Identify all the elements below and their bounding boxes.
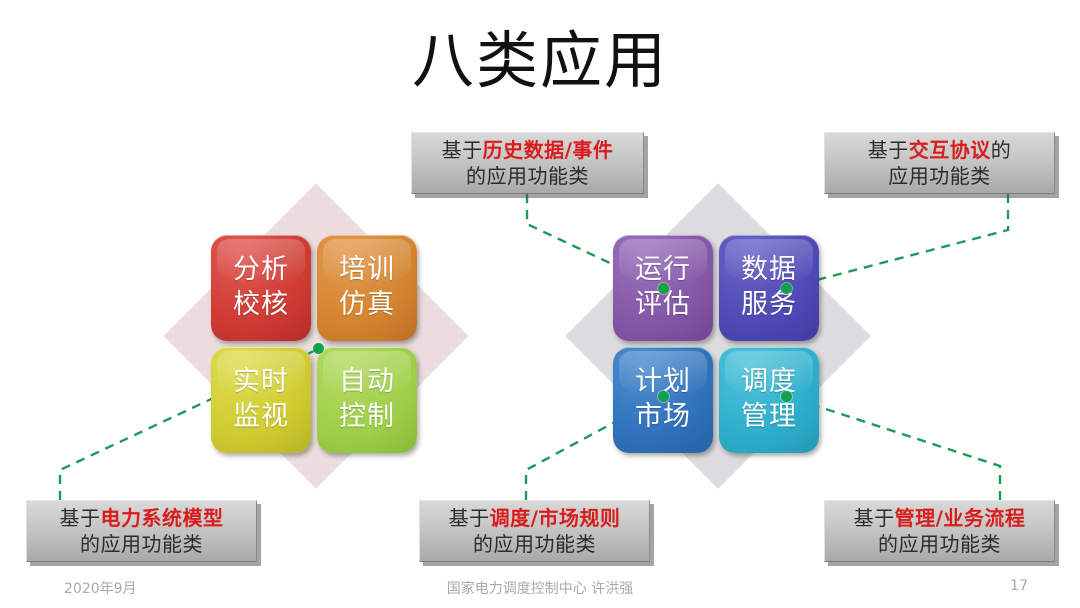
callout-prefix: 基于 — [442, 138, 483, 162]
callout-highlight: 调度/市场规则 — [490, 506, 621, 530]
callout-line-2: 的应用功能类 — [473, 531, 596, 557]
tile-analysis-verification[interactable]: 分析 校核 — [211, 235, 311, 341]
callout-line-1: 基于历史数据/事件 — [442, 137, 614, 163]
wire-protocol — [786, 194, 1008, 288]
junction-dot-left-cluster — [313, 343, 324, 354]
callout-highlight: 管理/业务流程 — [895, 506, 1026, 530]
callout-line-2: 应用功能类 — [888, 163, 991, 189]
callout-dispatch-market-rules[interactable]: 基于调度/市场规则 的应用功能类 — [419, 500, 650, 562]
callout-highlight: 交互协议 — [909, 138, 991, 162]
tile-line-2: 管理 — [741, 400, 797, 435]
tile-line-2: 控制 — [339, 400, 395, 435]
tile-automatic-control[interactable]: 自动 控制 — [317, 347, 417, 453]
right-application-cluster: 运行 评估 数据 服务 计划 市场 调度 管理 — [613, 235, 819, 453]
tile-line-2: 校核 — [233, 288, 289, 323]
callout-prefix: 基于 — [868, 138, 909, 162]
callout-interaction-protocol[interactable]: 基于交互协议的 应用功能类 — [824, 132, 1055, 194]
tile-line-1: 分析 — [233, 253, 289, 288]
callout-line-2: 的应用功能类 — [80, 531, 203, 557]
tile-data-service[interactable]: 数据 服务 — [719, 235, 819, 341]
slide-footer: 2020年9月 国家电力调度控制中心 许洪强 17 — [0, 578, 1080, 600]
junction-dot-operation-evaluation — [658, 283, 669, 294]
slide-canvas: 八类应用 分析 校核 培训 仿真 实时 监视 — [0, 0, 1080, 608]
tile-line-2: 市场 — [635, 400, 691, 435]
tile-line-1: 自动 — [339, 365, 395, 400]
tile-line-2: 监视 — [233, 400, 289, 435]
callout-highlight: 历史数据/事件 — [483, 138, 614, 162]
callout-management-business-process[interactable]: 基于管理/业务流程 的应用功能类 — [824, 500, 1055, 562]
callout-line-1: 基于交互协议的 — [868, 137, 1012, 163]
callout-line-2: 的应用功能类 — [466, 163, 589, 189]
tile-line-1: 实时 — [233, 365, 289, 400]
junction-dot-dispatch-management — [781, 391, 792, 402]
callout-power-system-model[interactable]: 基于电力系统模型 的应用功能类 — [26, 500, 257, 562]
callout-prefix: 基于 — [60, 506, 101, 530]
callout-line-2: 的应用功能类 — [878, 531, 1001, 557]
junction-dot-data-service — [781, 283, 792, 294]
callout-line-1: 基于管理/业务流程 — [854, 505, 1026, 531]
tile-training-simulation[interactable]: 培训 仿真 — [317, 235, 417, 341]
callout-suffix: 的 — [991, 138, 1012, 162]
callout-highlight: 电力系统模型 — [101, 506, 224, 530]
footer-page-number: 17 — [1010, 578, 1028, 594]
footer-affiliation: 国家电力调度控制中心 许洪强 — [0, 578, 1080, 598]
tile-realtime-monitoring[interactable]: 实时 监视 — [211, 347, 311, 453]
junction-dot-plan-market — [658, 391, 669, 402]
callout-prefix: 基于 — [854, 506, 895, 530]
tile-line-1: 培训 — [339, 253, 395, 288]
tile-dispatch-management[interactable]: 调度 管理 — [719, 347, 819, 453]
tile-line-2: 仿真 — [339, 288, 395, 323]
callout-line-1: 基于电力系统模型 — [60, 505, 224, 531]
callout-prefix: 基于 — [449, 506, 490, 530]
callout-history-data-event[interactable]: 基于历史数据/事件 的应用功能类 — [411, 132, 644, 194]
callout-line-1: 基于调度/市场规则 — [449, 505, 621, 531]
